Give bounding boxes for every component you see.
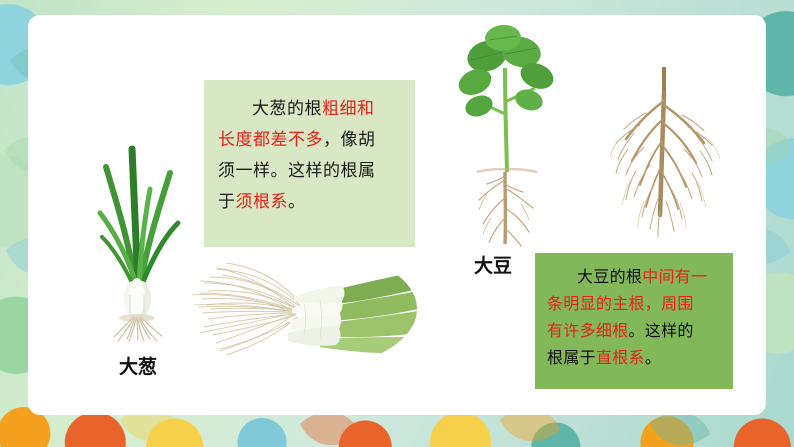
textbox2-line2-seg1: 条明显的主根，周围 xyxy=(547,294,694,313)
taproot-photo xyxy=(600,65,730,240)
fibrous-root-photo xyxy=(186,247,418,372)
textbox1-line-1: 大葱的根粗细和 xyxy=(218,94,403,125)
textbox2-line4-seg3: 。 xyxy=(645,348,661,367)
scallion-caption: 大葱 xyxy=(88,352,188,379)
textbox1-line-2: 长度都差不多，像胡 xyxy=(218,125,403,156)
textbox1-line4-seg1: 于 xyxy=(218,192,236,212)
textbox2-line-1: 大豆的根中间有一 xyxy=(547,263,723,290)
textbox1-line1-seg1: 大葱的根 xyxy=(252,99,322,119)
textbox2-line-3: 有许多细根。这样的 xyxy=(547,317,723,344)
textbox2-line1-seg1: 大豆的根 xyxy=(577,267,642,286)
taproot-textbox: 大豆的根中间有一 条明显的主根，周围 有许多细根。这样的 根属于直根系。 xyxy=(535,253,733,389)
textbox1-line4-seg2: 须根系 xyxy=(236,192,289,212)
soybean-caption: 大豆 xyxy=(463,251,523,278)
textbox2-line1-seg2: 中间有一 xyxy=(642,267,707,286)
textbox1-line3-seg1: 须一样。这样的根属 xyxy=(218,161,376,181)
textbox1-line1-seg2: 粗细和 xyxy=(322,99,375,119)
textbox2-line4-seg1: 根属于 xyxy=(547,348,596,367)
soybean-seedling-photo xyxy=(447,22,567,250)
textbox1-line2-seg1: 长度都差不多 xyxy=(218,130,323,150)
fibrous-root-textbox: 大葱的根粗细和 长度都差不多，像胡 须一样。这样的根属 于须根系。 xyxy=(204,80,415,247)
scallion-plant-photo xyxy=(78,127,198,342)
textbox2-line3-seg1: 有许多细根 xyxy=(547,321,629,340)
textbox2-line4-seg2: 直根系 xyxy=(596,348,645,367)
textbox2-line-2: 条明显的主根，周围 xyxy=(547,290,723,317)
textbox2-line-4: 根属于直根系。 xyxy=(547,344,723,371)
textbox1-line-4: 于须根系。 xyxy=(218,187,403,218)
textbox1-line2-seg2: ，像胡 xyxy=(323,130,376,150)
textbox1-line-3: 须一样。这样的根属 xyxy=(218,156,403,187)
slide-canvas: 大葱 大葱的根粗细和 长度都差不多，像胡 须一样。这样的根属 于须根系。 xyxy=(0,0,794,447)
textbox1-line4-seg3: 。 xyxy=(288,192,306,212)
textbox2-line3-seg2: 。这样的 xyxy=(629,321,694,340)
